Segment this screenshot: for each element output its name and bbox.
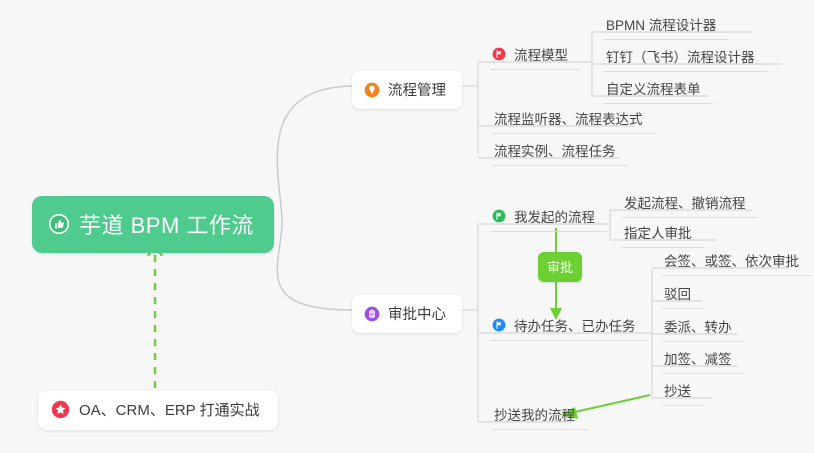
child-label: 抄送我的流程 [494,404,575,424]
grandchild-label: 抄送 [664,380,691,400]
grandchild-node-dingtalk-designer[interactable]: 钉钉（飞书）流程设计器 [604,42,767,72]
grandchild-node-assigned-approval[interactable]: 指定人审批 [622,218,704,248]
branch-node-process-management[interactable]: 流程管理 [352,70,462,109]
child-node-process-model[interactable]: 流程模型 [490,40,580,70]
child-node-my-initiated[interactable]: 我发起的流程 [490,202,607,232]
grandchild-label: 委派、转办 [664,316,732,336]
root-label: 芋道 BPM 工作流 [79,208,254,240]
grandchild-node-custom-form[interactable]: 自定义流程表单 [604,74,713,104]
child-node-process-listener[interactable]: 流程监听器、流程表达式 [492,104,655,134]
grandchild-node-delegate-transfer[interactable]: 委派、转办 [662,312,744,342]
child-node-process-instance[interactable]: 流程实例、流程任务 [492,136,628,166]
root-node[interactable]: 芋道 BPM 工作流 [32,196,274,253]
branch-label: 流程管理 [388,79,446,100]
branch-label: 审批中心 [388,303,446,324]
child-label: 我发起的流程 [514,206,595,226]
grandchild-node-initiate-cancel[interactable]: 发起流程、撤销流程 [622,188,758,218]
grandchild-node-add-remove-sign[interactable]: 加签、减签 [662,344,744,374]
grandchild-label: 发起流程、撤销流程 [624,192,746,212]
child-node-todo-done-tasks[interactable]: 待办任务、已办任务 [490,311,648,341]
child-label: 流程实例、流程任务 [494,140,616,160]
bottom-card-integration[interactable]: OA、CRM、ERP 打通实战 [38,390,278,430]
lightbulb-icon [364,82,380,98]
child-label: 流程监听器、流程表达式 [494,108,643,128]
grandchild-label: 驳回 [664,283,691,303]
grandchild-node-reject[interactable]: 驳回 [662,279,703,309]
grandchild-node-countersign[interactable]: 会签、或签、依次审批 [662,246,811,276]
grandchild-node-bpmn-designer[interactable]: BPMN 流程设计器 [604,10,728,40]
approval-tag-label: 审批 [547,260,573,275]
grandchild-label: BPMN 流程设计器 [606,14,716,34]
grandchild-label: 加签、减签 [664,348,732,368]
mindmap-canvas: 芋道 BPM 工作流 流程管理 流程模型 流程监听器、流程表达式 流程实例、流程… [0,0,814,453]
child-label: 待办任务、已办任务 [514,315,636,335]
clipboard-icon [364,306,380,322]
child-node-cc-to-me[interactable]: 抄送我的流程 [492,400,587,430]
approval-tag[interactable]: 审批 [538,252,582,282]
branch-node-approval-center[interactable]: 审批中心 [352,294,462,333]
grandchild-label: 钉钉（飞书）流程设计器 [606,46,755,66]
bottom-card-label: OA、CRM、ERP 打通实战 [79,399,260,420]
flag-icon [492,318,506,332]
grandchild-label: 指定人审批 [624,222,692,242]
grandchild-label: 会签、或签、依次审批 [664,250,799,270]
grandchild-label: 自定义流程表单 [606,78,701,98]
flag-icon [492,47,506,61]
star-icon [51,400,70,419]
child-label: 流程模型 [514,44,568,64]
grandchild-node-cc[interactable]: 抄送 [662,376,703,406]
flag-icon [492,209,506,223]
thumbs-up-icon [48,213,70,235]
